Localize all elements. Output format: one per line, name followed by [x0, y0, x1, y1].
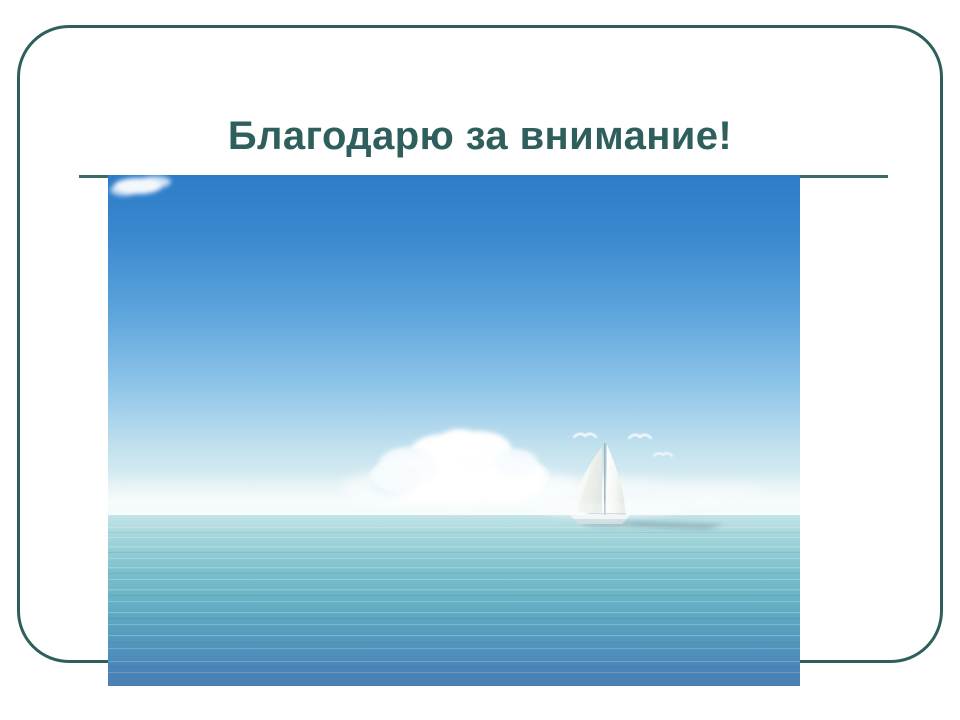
sailboat-photo [108, 175, 800, 686]
horizon-glare [538, 503, 678, 519]
sailboat-illustration [108, 175, 800, 686]
page-title: Благодарю за внимание! [0, 112, 960, 160]
presentation-slide: Благодарю за внимание! [0, 0, 960, 720]
